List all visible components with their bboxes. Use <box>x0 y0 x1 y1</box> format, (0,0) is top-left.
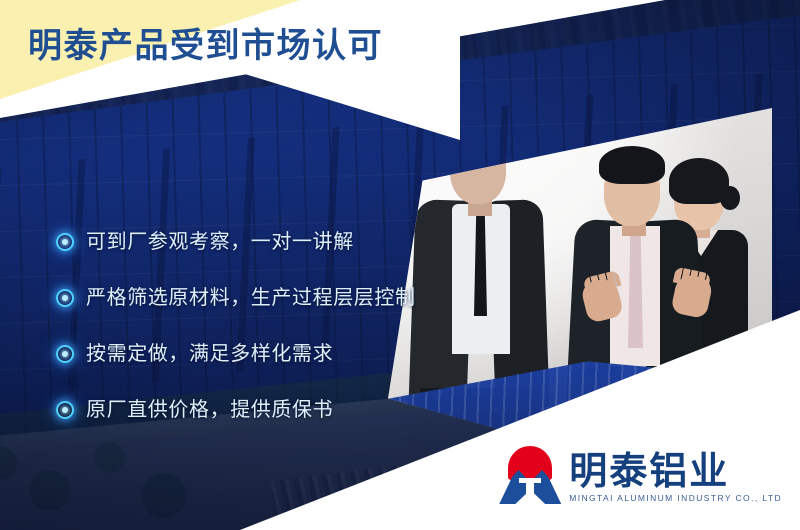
mingtai-sun-mountain-logo-icon <box>499 446 561 504</box>
person-woman-hair-bun <box>720 186 740 210</box>
target-ring-icon <box>56 289 74 307</box>
target-ring-icon <box>56 233 74 251</box>
feature-text: 原厂直供价格，提供质保书 <box>86 399 333 421</box>
person-asian-man-hair <box>599 146 665 184</box>
company-logo: 明泰铝业 MINGTAI ALUMINUM INDUSTRY CO., LTD <box>499 446 782 504</box>
target-ring-icon <box>56 401 74 419</box>
logo-brand-en: MINGTAI ALUMINUM INDUSTRY CO., LTD <box>569 492 782 504</box>
logo-brand-cn: 明泰铝业 <box>569 452 729 492</box>
logo-wordmark: 明泰铝业 MINGTAI ALUMINUM INDUSTRY CO., LTD <box>569 452 782 504</box>
list-item: 按需定做，满足多样化需求 <box>56 326 416 382</box>
list-item: 严格筛选原材料，生产过程层层控制 <box>56 270 416 326</box>
feature-text: 按需定做，满足多样化需求 <box>86 343 333 365</box>
feature-text: 严格筛选原材料，生产过程层层控制 <box>86 287 416 309</box>
list-item: 原厂直供价格，提供质保书 <box>56 382 416 438</box>
person-asian-man-tie <box>628 228 643 348</box>
feature-text: 可到厂参观考察，一对一讲解 <box>86 231 354 253</box>
target-ring-icon <box>56 345 74 363</box>
list-item: 可到厂参观考察，一对一讲解 <box>56 214 416 270</box>
feature-list: 可到厂参观考察，一对一讲解 严格筛选原材料，生产过程层层控制 按需定做，满足多样… <box>56 214 416 438</box>
logo-t-mark <box>526 478 534 502</box>
page-title: 明泰产品受到市场认可 <box>28 24 383 68</box>
promo-banner: 明泰产品受到市场认可 可到厂参观考察，一对一讲解 严格筛选原材料，生产过程层层控… <box>0 0 800 530</box>
